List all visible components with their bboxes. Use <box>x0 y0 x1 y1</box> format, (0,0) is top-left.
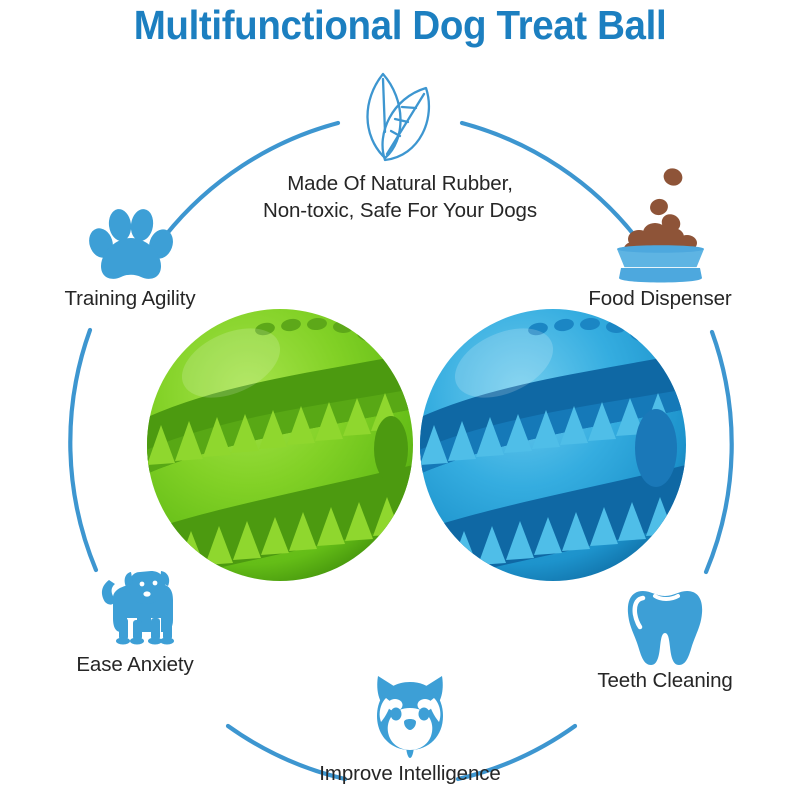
node-training-agility: Training Agility <box>40 205 220 311</box>
ring-arc-left <box>70 330 96 570</box>
page-title: Multifunctional Dog Treat Ball <box>24 2 776 49</box>
dog-bowl-icon <box>603 165 718 287</box>
label-teeth-cleaning: Teeth Cleaning <box>570 669 760 693</box>
dog-face-icon <box>364 672 456 762</box>
node-improve-intelligence: Improve Intelligence <box>310 672 510 786</box>
green-treat-ball <box>145 305 415 585</box>
product-infographic: Multifunctional Dog Treat Ball <box>0 0 800 800</box>
ring-arc-right <box>706 332 732 572</box>
label-improve-intelligence: Improve Intelligence <box>310 762 510 786</box>
tooth-icon <box>621 583 709 669</box>
node-food-dispenser: Food Dispenser <box>565 165 755 311</box>
node-natural-rubber <box>340 62 460 167</box>
blue-treat-ball <box>418 305 688 585</box>
node-teeth-cleaning: Teeth Cleaning <box>570 583 760 693</box>
leaf-icon <box>340 62 460 167</box>
paw-print-icon <box>85 205 175 287</box>
label-ease-anxiety: Ease Anxiety <box>45 653 225 677</box>
